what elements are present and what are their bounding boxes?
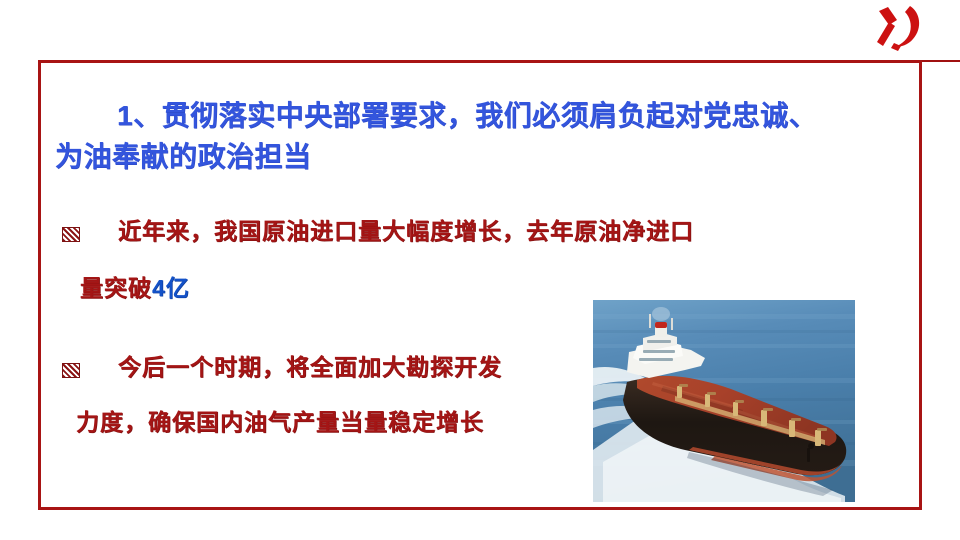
title-line-2: 为油奉献的政治担当 <box>55 137 905 178</box>
page-title: 1、贯彻落实中央部署要求，我们必须肩负起对党忠诚、 为油奉献的政治担当 <box>55 96 905 178</box>
bullet-item-1: 近年来，我国原油进口量大幅度增长，去年原油净进口 量突破4亿 <box>62 220 822 303</box>
bullet-1-line-1: 近年来，我国原油进口量大幅度增长，去年原油净进口 <box>118 220 694 243</box>
bullet-1-line-2: 量突破4亿 <box>80 269 822 303</box>
bullet-2-line-2: 力度，确保国内油气产量当量稳定增长 <box>76 403 622 437</box>
hatched-square-marker-icon <box>62 227 80 242</box>
bullet-2-row: 今后一个时期，将全面加大勘探开发 <box>62 356 622 379</box>
bullet-2-line-1: 今后一个时期，将全面加大勘探开发 <box>118 356 502 379</box>
slide: 1、贯彻落实中央部署要求，我们必须肩负起对党忠诚、 为油奉献的政治担当 近年来，… <box>0 0 960 540</box>
bullet-1-highlight: 4亿 <box>152 275 190 301</box>
hatched-square-marker-icon <box>62 363 80 378</box>
top-red-rule <box>920 60 960 62</box>
hammer-and-sickle-icon <box>866 2 928 52</box>
bullet-1-line-2-prefix: 量突破 <box>80 275 152 301</box>
bullet-1-row: 近年来，我国原油进口量大幅度增长，去年原油净进口 <box>62 220 822 243</box>
oil-tanker-photo <box>593 300 855 502</box>
title-line-1: 1、贯彻落实中央部署要求，我们必须肩负起对党忠诚、 <box>55 96 905 137</box>
bullet-item-2: 今后一个时期，将全面加大勘探开发 力度，确保国内油气产量当量稳定增长 <box>62 356 622 437</box>
